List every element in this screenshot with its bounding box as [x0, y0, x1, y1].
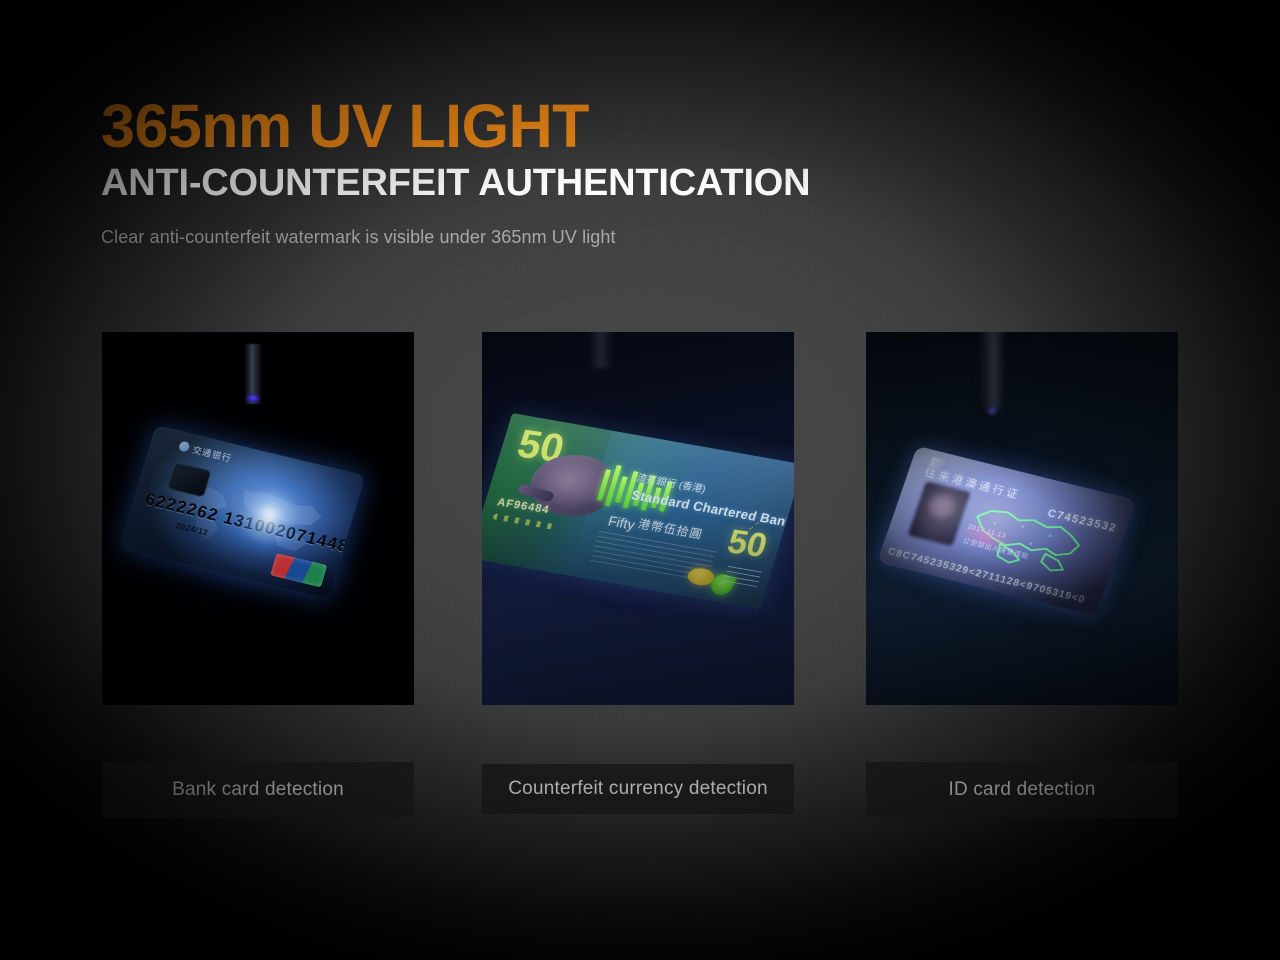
gallery-item-bank-card[interactable]: 交通银行 6222262 1310020714487 2024/12	[102, 332, 414, 705]
uv-led-icon	[988, 408, 996, 414]
caption-counterfeit-currency: Counterfeit currency detection	[482, 764, 794, 814]
uv-flashlight-icon	[978, 332, 1004, 410]
photo-bank-card: 交通银行 6222262 1310020714487 2024/12	[102, 332, 414, 705]
photo-counterfeit-currency: 50 50 渣打銀行 (香港) Standard Chartered Bank	[482, 332, 794, 705]
bank-logo-icon	[178, 440, 191, 452]
gallery-item-id-card[interactable]: 往来港澳通行证 2017.11.13 公安部出入境管理局	[866, 332, 1178, 705]
caption-id-card: ID card detection	[866, 762, 1178, 818]
photo-id-card: 往来港澳通行证 2017.11.13 公安部出入境管理局	[866, 332, 1178, 705]
uv-led-icon	[247, 395, 259, 402]
gallery: 交通银行 6222262 1310020714487 2024/12 Bank …	[0, 0, 1280, 960]
gallery-item-counterfeit-currency[interactable]: 50 50 渣打銀行 (香港) Standard Chartered Bank	[482, 332, 794, 705]
uv-flashlight-icon	[590, 332, 612, 368]
caption-bank-card: Bank card detection	[102, 762, 414, 818]
